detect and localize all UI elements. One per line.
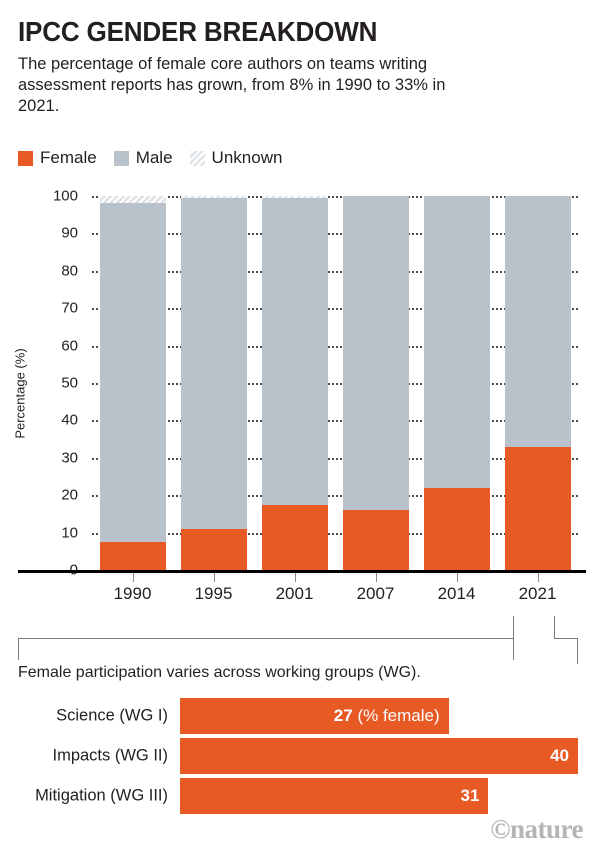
y-tick-label: 10 [26, 524, 78, 541]
wg-value-label: 27 (% female) [334, 706, 440, 726]
x-axis-line [18, 570, 586, 573]
bar-segment-unknown [181, 196, 247, 198]
y-tick-label: 70 [26, 300, 78, 317]
bar-column[interactable] [343, 196, 409, 570]
wg-label: Mitigation (WG III) [0, 787, 168, 806]
x-tick-mark [214, 573, 215, 582]
legend-swatch-unknown-icon [190, 151, 205, 166]
bar-column[interactable] [505, 196, 571, 570]
legend-swatch-male-icon [114, 151, 129, 166]
y-tick-label: 80 [26, 262, 78, 279]
bar-segment-female [181, 529, 247, 570]
wg-value-label: 40 [550, 746, 569, 766]
bar-column[interactable] [181, 196, 247, 570]
bar-segment-male [424, 196, 490, 488]
chart-subtitle: The percentage of female core authors on… [18, 54, 448, 117]
bar-group [92, 196, 578, 570]
bar-column[interactable] [424, 196, 490, 570]
y-tick-label: 40 [26, 412, 78, 429]
bar-column[interactable] [262, 196, 328, 570]
bar-segment-unknown [262, 196, 328, 198]
legend-swatch-female-icon [18, 151, 33, 166]
header: IPCC GENDER BREAKDOWN The percentage of … [18, 16, 584, 117]
bar-segment-unknown [100, 196, 166, 203]
x-tick-mark [133, 573, 134, 582]
bar-segment-female [100, 542, 166, 570]
wg-bar: 40 [180, 738, 578, 774]
wg-value-label: 31 [461, 786, 480, 806]
y-tick-label: 30 [26, 449, 78, 466]
page-title: IPCC GENDER BREAKDOWN [18, 16, 544, 48]
x-tick-mark [376, 573, 377, 582]
bar-segment-male [505, 196, 571, 447]
bar-segment-male [181, 198, 247, 529]
legend-label-male: Male [136, 148, 173, 168]
legend-label-unknown: Unknown [212, 148, 283, 168]
wg-row[interactable]: Science (WG I)27 (% female) [0, 698, 600, 734]
x-tick-mark [457, 573, 458, 582]
legend-label-female: Female [40, 148, 97, 168]
wg-label: Impacts (WG II) [0, 747, 168, 766]
bracket-right-stem-down [577, 638, 578, 664]
legend-item-male: Male [114, 148, 173, 168]
bracket-right-span [554, 638, 578, 639]
bar-segment-female [262, 505, 328, 570]
wg-bar: 31 [180, 778, 488, 814]
bracket-left-span [18, 638, 514, 660]
bracket-right-stem-up [554, 616, 555, 639]
wg-value-unit: (% female) [353, 706, 440, 725]
bar-segment-male [343, 196, 409, 510]
wg-bar-chart: Science (WG I)27 (% female)Impacts (WG I… [0, 698, 600, 818]
bar-segment-female [505, 447, 571, 570]
stacked-bar-chart: Percentage (%) 0102030405060708090100 19… [0, 196, 600, 596]
nature-logo: ©nature [490, 814, 583, 845]
bracket-left-stem [513, 616, 514, 639]
x-tick-mark [295, 573, 296, 582]
y-tick-label: 100 [26, 188, 78, 205]
y-tick-label: 50 [26, 375, 78, 392]
wg-row[interactable]: Impacts (WG II)40 [0, 738, 600, 774]
legend-item-unknown: Unknown [190, 148, 283, 168]
bar-segment-male [262, 198, 328, 505]
y-tick-label: 90 [26, 225, 78, 242]
y-axis-ticks: 0102030405060708090100 [0, 196, 78, 570]
wg-caption: Female participation varies across worki… [18, 664, 421, 682]
wg-row[interactable]: Mitigation (WG III)31 [0, 778, 600, 814]
x-tick-mark [538, 573, 539, 582]
legend-item-female: Female [18, 148, 97, 168]
bar-segment-female [343, 510, 409, 570]
bar-column[interactable] [100, 196, 166, 570]
chart-legend: Female Male Unknown [18, 148, 282, 168]
bar-segment-female [424, 488, 490, 570]
wg-label: Science (WG I) [0, 707, 168, 726]
callout-bracket [0, 596, 600, 658]
y-tick-label: 20 [26, 487, 78, 504]
bar-segment-male [100, 203, 166, 541]
wg-bar: 27 (% female) [180, 698, 449, 734]
y-tick-label: 60 [26, 337, 78, 354]
